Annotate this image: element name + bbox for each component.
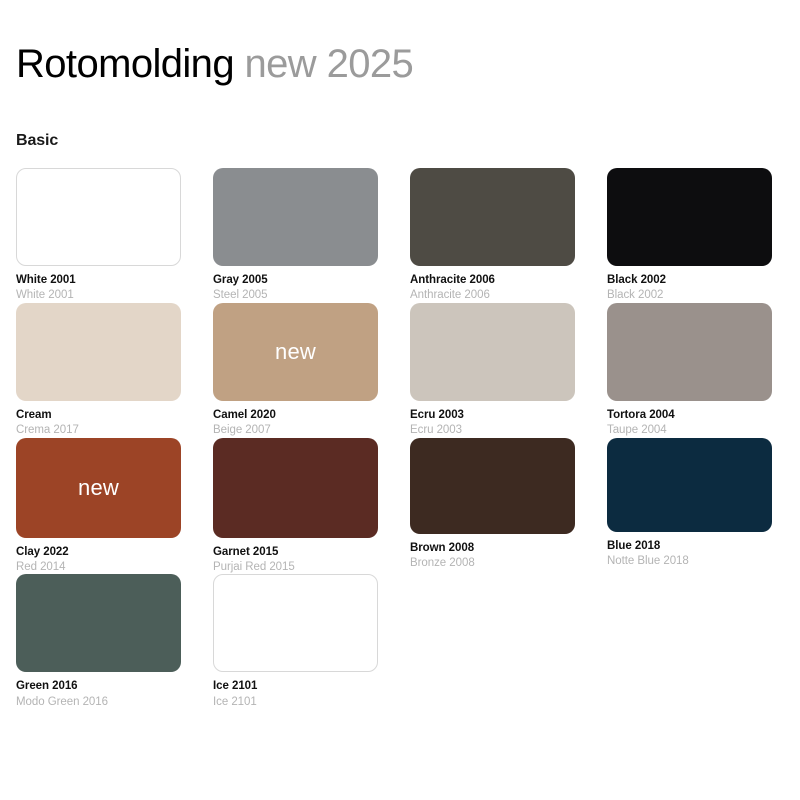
swatch-cell: Black 2002Black 2002 xyxy=(607,168,772,303)
swatch-chip[interactable] xyxy=(607,168,772,266)
swatch-labels: Green 2016Modo Green 2016 xyxy=(16,672,181,709)
page-title-space xyxy=(234,42,245,86)
swatch-alt-name: Steel 2005 xyxy=(213,287,378,302)
swatch-cell: Blue 2018Notte Blue 2018 xyxy=(607,438,772,569)
swatch-labels: White 2001White 2001 xyxy=(16,266,181,303)
swatch-grid: White 2001White 2001Gray 2005Steel 2005A… xyxy=(16,168,784,709)
swatch-labels: Ecru 2003Ecru 2003 xyxy=(410,401,575,438)
swatch-chip[interactable] xyxy=(410,438,575,534)
swatch-cell: newClay 2022Red 2014 xyxy=(16,438,181,575)
swatch-name: White 2001 xyxy=(16,273,181,287)
swatch-cell: Brown 2008Bronze 2008 xyxy=(410,438,575,571)
swatch-chip[interactable] xyxy=(16,574,181,672)
swatch-chip[interactable] xyxy=(16,168,181,266)
swatch-chip[interactable] xyxy=(410,168,575,266)
swatch-labels: Ice 2101Ice 2101 xyxy=(213,672,378,709)
swatch-chip[interactable] xyxy=(213,168,378,266)
page-title-main: Rotomolding xyxy=(16,42,234,86)
swatch-alt-name: Purjai Red 2015 xyxy=(213,559,378,574)
swatch-alt-name: Anthracite 2006 xyxy=(410,287,575,302)
page-title-sub: new 2025 xyxy=(245,42,414,86)
swatch-labels: Black 2002Black 2002 xyxy=(607,266,772,303)
swatch-name: Garnet 2015 xyxy=(213,545,378,559)
swatch-alt-name: Modo Green 2016 xyxy=(16,694,181,709)
swatch-name: Brown 2008 xyxy=(410,541,575,555)
page-title: Rotomolding new 2025 xyxy=(16,44,784,84)
swatch-chip[interactable]: new xyxy=(16,438,181,538)
swatch-alt-name: Black 2002 xyxy=(607,287,772,302)
swatch-alt-name: Ice 2101 xyxy=(213,694,378,709)
swatch-name: Black 2002 xyxy=(607,273,772,287)
swatch-labels: Blue 2018Notte Blue 2018 xyxy=(607,532,772,569)
swatch-name: Cream xyxy=(16,408,181,422)
swatch-chip[interactable] xyxy=(213,574,378,672)
swatch-cell: Green 2016Modo Green 2016 xyxy=(16,574,181,709)
swatch-cell: Gray 2005Steel 2005 xyxy=(213,168,378,303)
swatch-labels: Anthracite 2006Anthracite 2006 xyxy=(410,266,575,303)
swatch-chip[interactable] xyxy=(607,438,772,532)
swatch-labels: Tortora 2004Taupe 2004 xyxy=(607,401,772,438)
swatch-alt-name: Crema 2017 xyxy=(16,422,181,437)
swatch-labels: Gray 2005Steel 2005 xyxy=(213,266,378,303)
swatch-alt-name: Taupe 2004 xyxy=(607,422,772,437)
swatch-name: Ecru 2003 xyxy=(410,408,575,422)
new-badge: new xyxy=(78,477,119,499)
swatch-alt-name: Beige 2007 xyxy=(213,422,378,437)
swatch-name: Clay 2022 xyxy=(16,545,181,559)
swatch-name: Gray 2005 xyxy=(213,273,378,287)
swatch-chip[interactable] xyxy=(213,438,378,538)
swatch-chip[interactable] xyxy=(410,303,575,401)
swatch-alt-name: Bronze 2008 xyxy=(410,555,575,570)
swatch-name: Blue 2018 xyxy=(607,539,772,553)
swatch-chip[interactable] xyxy=(16,303,181,401)
swatch-labels: Brown 2008Bronze 2008 xyxy=(410,534,575,571)
swatch-cell: Ecru 2003Ecru 2003 xyxy=(410,303,575,438)
swatch-name: Camel 2020 xyxy=(213,408,378,422)
swatch-cell: CreamCrema 2017 xyxy=(16,303,181,438)
swatch-cell: newCamel 2020Beige 2007 xyxy=(213,303,378,438)
swatch-chip[interactable] xyxy=(607,303,772,401)
swatch-labels: Camel 2020Beige 2007 xyxy=(213,401,378,438)
page-header: Rotomolding new 2025 xyxy=(16,0,784,84)
swatch-alt-name: White 2001 xyxy=(16,287,181,302)
swatch-cell: Anthracite 2006Anthracite 2006 xyxy=(410,168,575,303)
swatch-cell: Garnet 2015Purjai Red 2015 xyxy=(213,438,378,575)
swatch-cell: Tortora 2004Taupe 2004 xyxy=(607,303,772,438)
swatch-name: Anthracite 2006 xyxy=(410,273,575,287)
swatch-labels: Clay 2022Red 2014 xyxy=(16,538,181,575)
section-heading-basic: Basic xyxy=(16,132,784,150)
swatch-cell: White 2001White 2001 xyxy=(16,168,181,303)
swatch-alt-name: Ecru 2003 xyxy=(410,422,575,437)
swatch-cell: Ice 2101Ice 2101 xyxy=(213,574,378,709)
swatch-name: Tortora 2004 xyxy=(607,408,772,422)
swatch-alt-name: Notte Blue 2018 xyxy=(607,553,772,568)
swatch-labels: Garnet 2015Purjai Red 2015 xyxy=(213,538,378,575)
swatch-chip[interactable]: new xyxy=(213,303,378,401)
swatch-labels: CreamCrema 2017 xyxy=(16,401,181,438)
swatch-name: Green 2016 xyxy=(16,679,181,693)
color-palette-page: Rotomolding new 2025 Basic White 2001Whi… xyxy=(0,0,800,800)
swatch-alt-name: Red 2014 xyxy=(16,559,181,574)
swatch-name: Ice 2101 xyxy=(213,679,378,693)
new-badge: new xyxy=(275,341,316,363)
